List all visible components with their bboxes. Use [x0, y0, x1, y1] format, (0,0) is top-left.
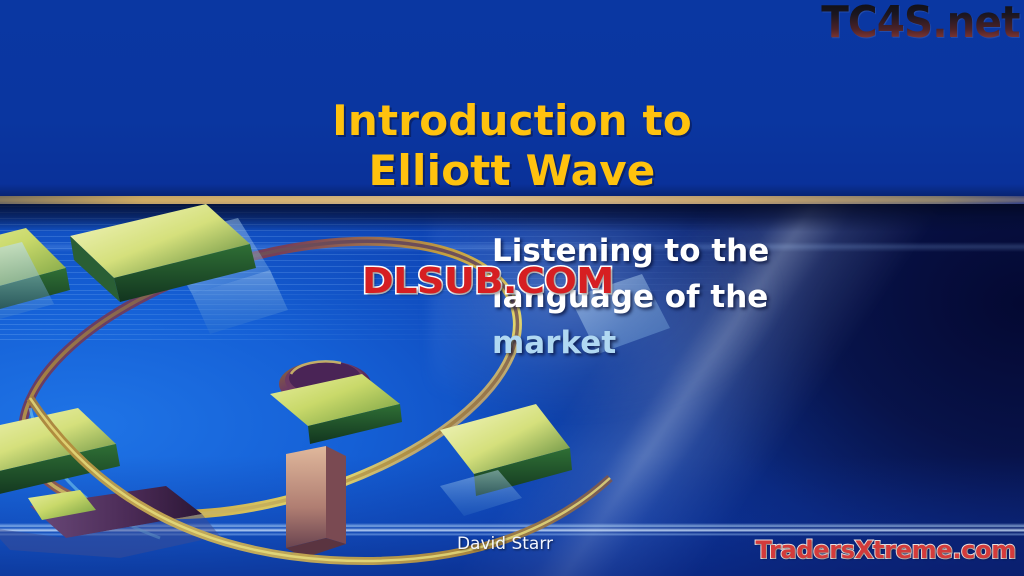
tc4s-logo: TC4S.net	[822, 0, 1020, 48]
title-line-2: Elliott Wave	[0, 146, 1024, 196]
slide-title: Introduction to Elliott Wave	[0, 96, 1024, 196]
title-line-1: Introduction to	[332, 96, 692, 145]
presentation-slide: Introduction to Elliott Wave Listening t…	[0, 0, 1024, 576]
gold-divider-line	[0, 196, 1024, 204]
tradersxtreme-watermark: TradersXtreme.com	[756, 536, 1016, 564]
subtitle-highlight-word: market	[492, 325, 616, 361]
dlsub-watermark: DLSUB.COM	[362, 262, 614, 302]
